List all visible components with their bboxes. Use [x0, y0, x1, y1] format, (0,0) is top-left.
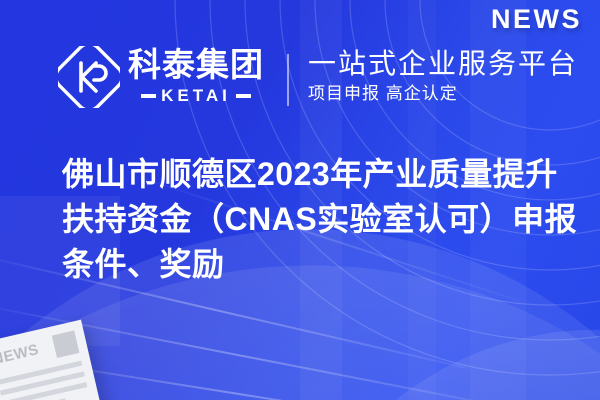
brand-name-cn: 科泰集团 [128, 48, 264, 83]
brand-name-en-row: KETAI [141, 86, 251, 106]
news-banner: NEWS 科泰集团 KETAI 一站式企业服务平台 项目申报 高企认定 佛山市顺… [0, 0, 600, 400]
news-badge: NEWS [491, 4, 582, 35]
brand-logo[interactable]: 科泰集团 KETAI [58, 46, 264, 108]
dash-left-icon [141, 94, 156, 98]
page-title: 佛山市顺德区2023年产业质量提升扶持资金（CNAS实验室认可）申报条件、奖励 [62, 152, 582, 287]
newspaper-thumbnail [52, 330, 80, 358]
newspaper-label: NEWS [0, 342, 40, 367]
ketai-monogram-icon [58, 46, 120, 108]
brand-wordmark: 科泰集团 KETAI [128, 48, 264, 106]
brand-name-en: KETAI [161, 86, 231, 106]
tagline-main: 一站式企业服务平台 [308, 47, 578, 80]
dash-right-icon [236, 94, 251, 98]
tagline-sub: 项目申报 高企认定 [308, 83, 578, 105]
tagline-block: 一站式企业服务平台 项目申报 高企认定 [308, 47, 578, 105]
vertical-divider [287, 54, 289, 106]
